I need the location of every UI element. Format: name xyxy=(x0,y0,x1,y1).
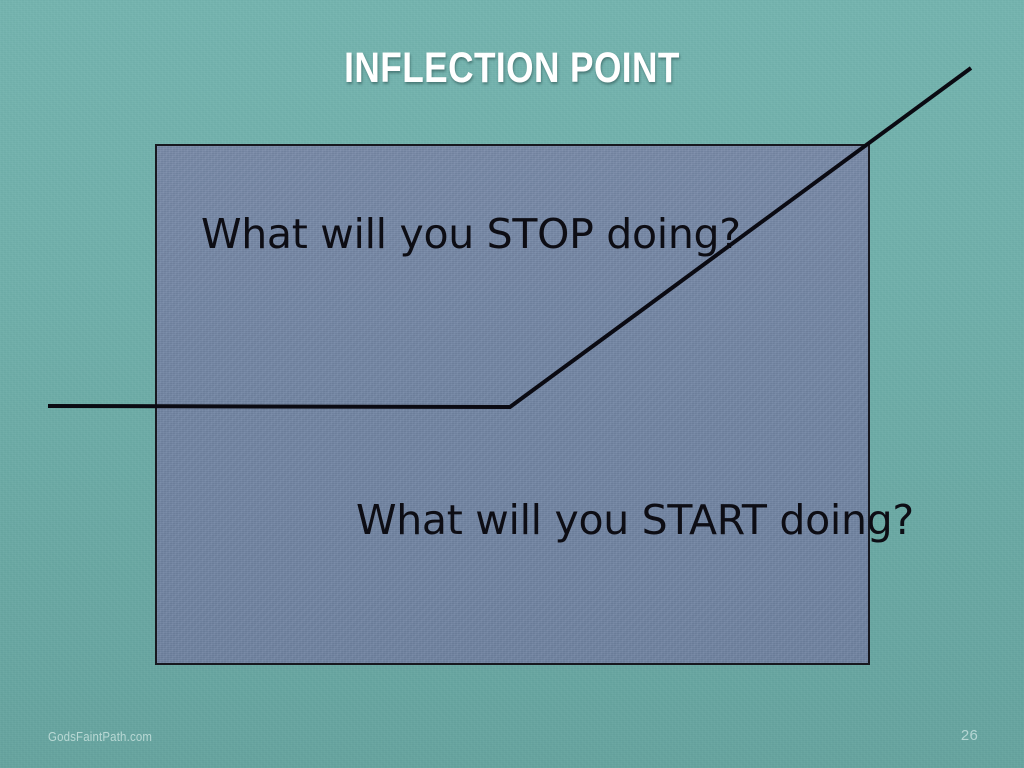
stop-question-text: What will you STOP doing? xyxy=(201,210,741,258)
page-number-label: 26 xyxy=(961,727,978,744)
slide-canvas: INFLECTION POINT What will you STOP doin… xyxy=(0,0,1024,768)
start-question-text: What will you START doing? xyxy=(356,496,914,544)
footer-brand-label: GodsFaintPath.com xyxy=(48,729,152,744)
content-panel: What will you STOP doing? What will you … xyxy=(155,144,870,665)
page-title: INFLECTION POINT xyxy=(92,44,932,93)
